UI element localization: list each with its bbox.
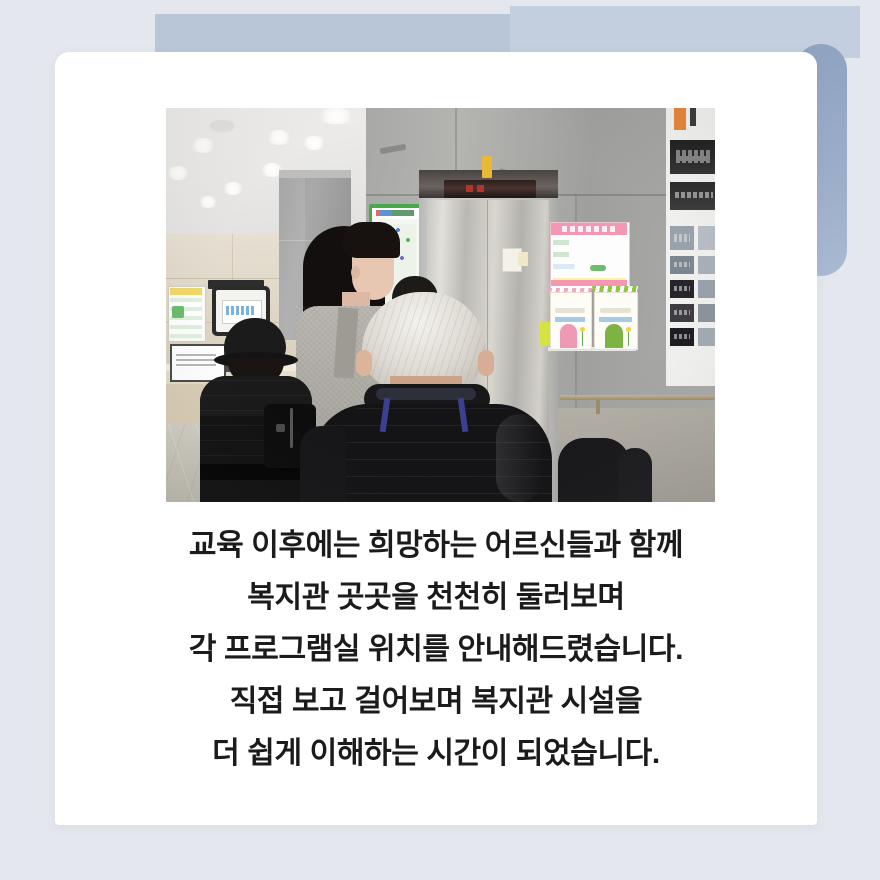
page-stage: 교육 이후에는 희망하는 어르신들과 함께 복지관 곳곳을 천천히 둘러보며 각…	[0, 0, 880, 880]
content-card: 교육 이후에는 희망하는 어르신들과 함께 복지관 곳곳을 천천히 둘러보며 각…	[55, 52, 817, 825]
photo-vignette	[166, 108, 715, 502]
caption-text: 교육 이후에는 희망하는 어르신들과 함께 복지관 곳곳을 천천히 둘러보며 각…	[95, 520, 777, 780]
scene-photo	[166, 108, 715, 502]
